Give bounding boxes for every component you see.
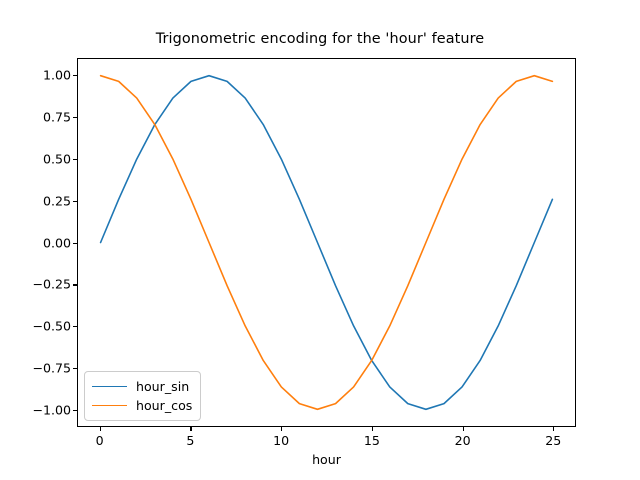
x-axis-tick-mark (190, 427, 191, 431)
x-axis-label: hour (77, 452, 576, 467)
series-line-hour_sin (101, 76, 553, 410)
x-axis-tick-mark (553, 427, 554, 431)
legend-color-swatch (92, 405, 127, 406)
y-axis-tick-label: 0.50 (0, 151, 71, 166)
x-axis-tick-label: 25 (545, 433, 561, 448)
x-axis-tick-mark (372, 427, 373, 431)
y-axis-tick-label: 0.25 (0, 193, 71, 208)
y-axis-tick-label: −1.00 (0, 403, 71, 418)
chart-title: Trigonometric encoding for the 'hour' fe… (0, 31, 640, 47)
chart-legend[interactable]: hour_sinhour_cos (84, 371, 201, 421)
legend-label: hour_cos (136, 398, 192, 413)
x-axis-tick-mark (281, 427, 282, 431)
x-axis-tick-label: 10 (273, 433, 289, 448)
x-axis-tick-label: 5 (186, 433, 194, 448)
legend-item-hour_sin[interactable]: hour_sin (92, 377, 192, 396)
y-axis-tick-label: 1.00 (0, 67, 71, 82)
x-axis-tick-mark (100, 427, 101, 431)
legend-label: hour_sin (136, 379, 189, 394)
x-axis-tick-label: 0 (96, 433, 104, 448)
x-axis-tick-label: 20 (455, 433, 471, 448)
y-axis-tick-label: −0.25 (0, 277, 71, 292)
y-axis-tick-label: −0.50 (0, 319, 71, 334)
y-axis-tick-label: 0.00 (0, 235, 71, 250)
matplotlib-figure: Trigonometric encoding for the 'hour' fe… (0, 0, 640, 480)
legend-color-swatch (92, 386, 127, 387)
y-axis-tick-label: 0.75 (0, 109, 71, 124)
x-axis-tick-mark (463, 427, 464, 431)
x-axis-tick-label: 15 (364, 433, 380, 448)
series-line-hour_cos (101, 76, 553, 410)
legend-item-hour_cos[interactable]: hour_cos (92, 396, 192, 415)
y-axis-tick-label: −0.75 (0, 361, 71, 376)
